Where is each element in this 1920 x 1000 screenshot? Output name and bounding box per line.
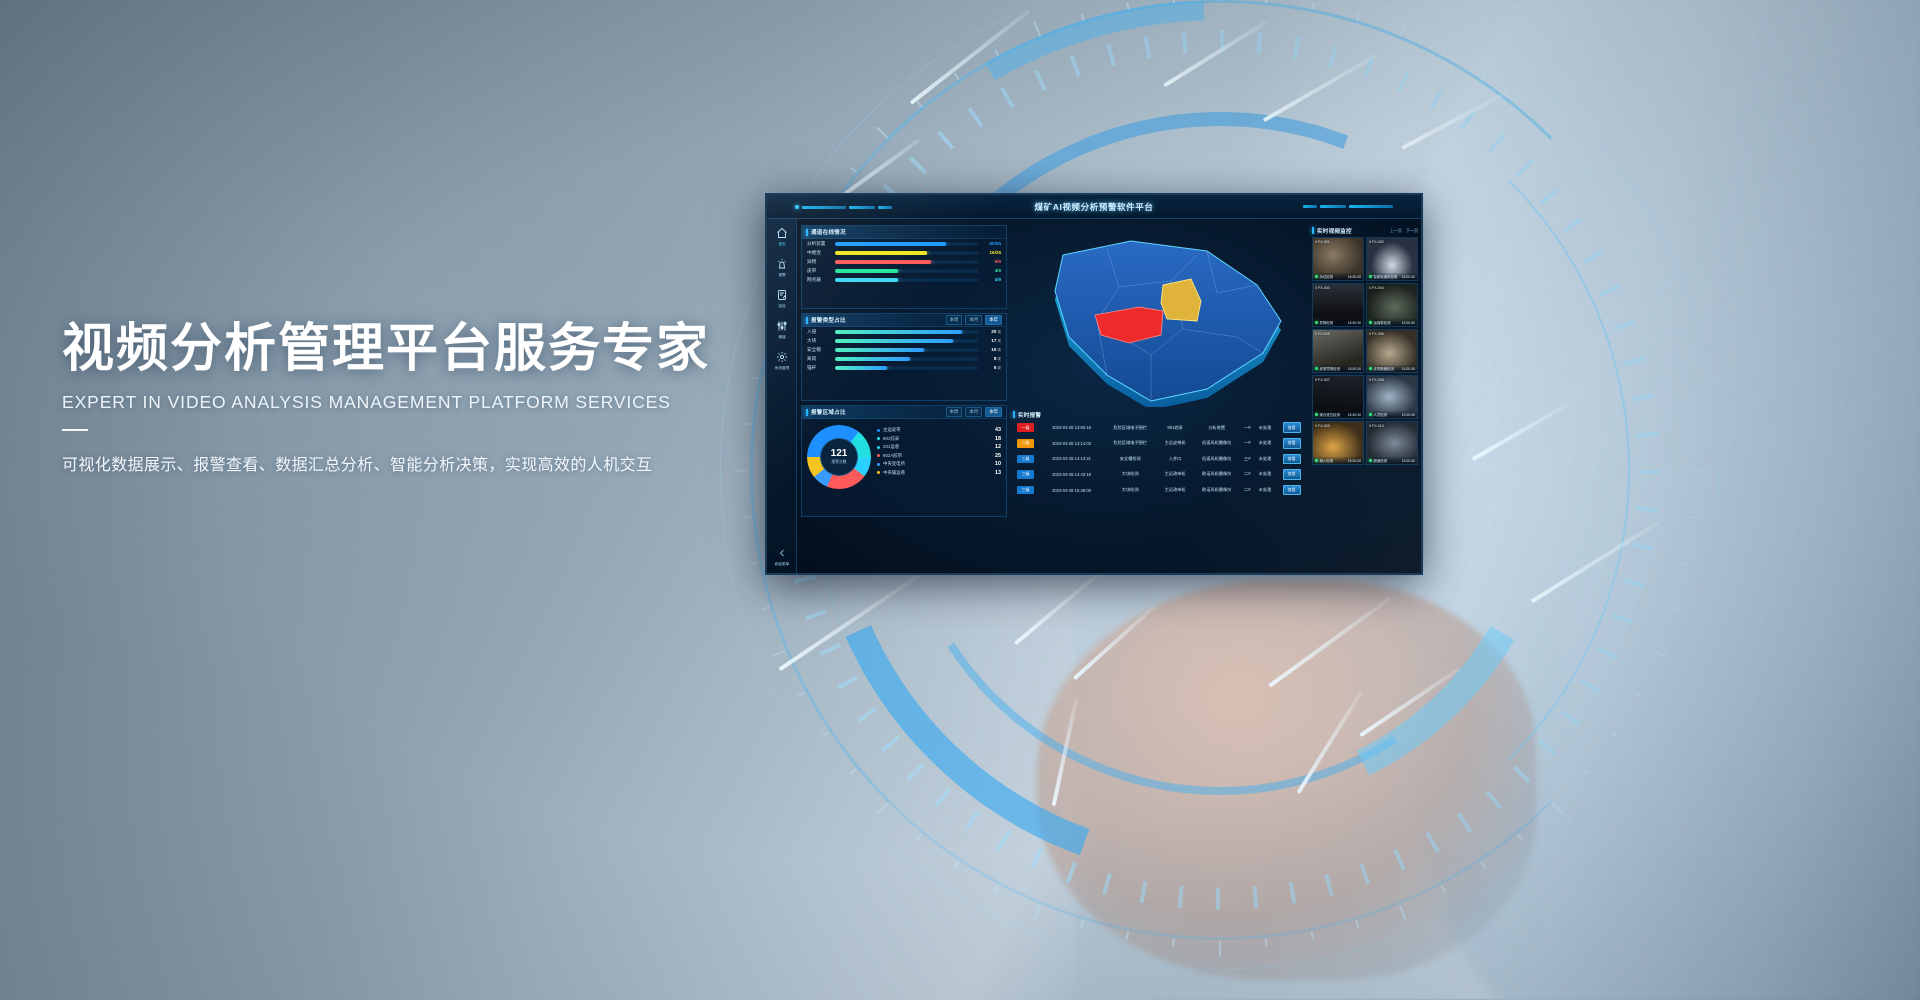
video-cell[interactable]: 0 FX-001永位检测15:20:30	[1312, 237, 1364, 281]
video-cell[interactable]: 0 FX-006皮带跑偏检测15:20:30	[1366, 329, 1418, 373]
prev-page-button[interactable]: 上一页	[1390, 228, 1402, 234]
video-cell[interactable]: 0 FX-002智能轨道巡检例15:20:30	[1366, 237, 1418, 281]
sidebar-label-collapse: 收起菜单	[769, 561, 795, 567]
online-status-icon	[1315, 413, 1318, 416]
legend-item: 902A胶带25	[877, 453, 1001, 459]
alarm-grade: 二#	[1241, 482, 1254, 498]
channel-name: 皮带	[807, 268, 835, 274]
alarm-status: 未处理	[1254, 467, 1276, 483]
camera-id: 0 FX-003	[1315, 286, 1330, 290]
online-status-icon	[1315, 459, 1318, 462]
legend-name: 901综采	[883, 436, 995, 442]
alarm-area: 主运皮带机	[1157, 436, 1192, 452]
video-cell[interactable]: 0 FX-005皮带异物检测15:20:30	[1312, 329, 1364, 373]
camera-time: 15:20:30	[1402, 275, 1415, 279]
camera-time: 15:20:30	[1402, 367, 1415, 371]
camera-time: 15:20:30	[1402, 413, 1415, 417]
alarm-type-value: 10次	[979, 347, 1001, 353]
sidebar-item-home[interactable]: 首页	[768, 227, 796, 247]
alarm-grade: 一#	[1241, 420, 1254, 436]
alarm-type-row: 离岗8次	[802, 354, 1006, 363]
table-row[interactable]: 三级2023-03-28 14:43:18大块检测主运改单机欧诺风机摄像仪二#未…	[1011, 467, 1307, 483]
sidebar-item-alarm[interactable]: 报警	[768, 258, 796, 278]
alarm-type: 危险区域电子围栏	[1103, 420, 1158, 436]
video-cell[interactable]: 0 FX-004运煤带检测15:20:30	[1366, 283, 1418, 327]
camera-time: 15:20:30	[1348, 321, 1361, 325]
video-monitor-panel: 实时视频监控 上一页 下一页 0 FX-001永位检测15:20:300 FX-…	[1311, 225, 1419, 517]
table-row[interactable]: 三级2023-03-28 15:46:00大块检测主运改单机欧诺风机摄像仪二#未…	[1011, 482, 1307, 498]
channel-value: 16/25	[979, 250, 1001, 255]
legend-swatch	[877, 454, 880, 457]
camera-id: 0 FX-006	[1369, 332, 1384, 336]
online-status-icon	[1315, 321, 1318, 324]
alarm-level: 一级	[1011, 420, 1040, 436]
legend-value: 25	[995, 453, 1001, 459]
channel-name: 中继连	[807, 250, 835, 256]
alarm-type: 危险区域电子围栏	[1103, 436, 1158, 452]
alarm-area-header: 报警区域占比 本周本月本年	[802, 406, 1006, 419]
sidebar-item-system[interactable]: 系统管理	[768, 351, 796, 371]
alarm-device: 分析装置	[1193, 420, 1241, 436]
inspection-icon	[768, 289, 796, 302]
alarm-type: 大块检测	[1103, 482, 1158, 498]
page-title: 视频分析管理平台服务专家	[62, 320, 762, 378]
alarm-type-track	[835, 348, 979, 352]
video-monitor-title: 实时视频监控	[1317, 227, 1352, 235]
camera-time: 15:20:30	[1348, 459, 1361, 463]
home-icon	[768, 227, 796, 240]
view-button[interactable]: 查看	[1283, 438, 1301, 449]
legend-name: 中央辅运巷	[883, 470, 995, 476]
channel-row: 中继连16/25	[802, 248, 1006, 257]
camera-name: 人员检测	[1374, 412, 1388, 417]
online-status-icon	[1315, 275, 1318, 278]
realtime-alarm-header: 实时报警	[1011, 409, 1307, 420]
camera-id: 0 FX-010	[1369, 424, 1384, 428]
camera-time: 15:20:30	[1402, 321, 1415, 325]
legend-swatch	[877, 437, 880, 440]
camera-time: 15:20:30	[1348, 275, 1361, 279]
alarm-time: 2023-03-28 15:46:00	[1040, 482, 1103, 498]
online-status-icon	[1369, 275, 1372, 278]
channel-online-header: 通道在线情况	[802, 226, 1006, 239]
alarm-time: 2023-03-28 14:13:21	[1040, 451, 1103, 467]
legend-value: 12	[995, 444, 1001, 450]
video-cell[interactable]: 0 FX-003异物检测15:20:30	[1312, 283, 1364, 327]
tab-area-本周[interactable]: 本周	[946, 407, 963, 417]
legend-swatch	[877, 446, 880, 449]
sidebar-item-channel[interactable]: 通道	[768, 320, 796, 340]
alarm-area-donut-chart: 121 报警次数	[807, 425, 871, 489]
alarm-type-track	[835, 357, 979, 361]
alarm-action: 查看	[1276, 451, 1307, 467]
alarm-type-value: 8次	[979, 356, 1001, 362]
legend-value: 18	[995, 436, 1001, 442]
camera-name: 异物检测	[1320, 320, 1334, 325]
alarm-area-title: 报警区域占比	[811, 408, 846, 416]
legend-item: 901综采18	[877, 436, 1001, 442]
alarm-area: 主运改单机	[1157, 467, 1192, 483]
alarm-time: 2023-03-28 13:60:16	[1040, 420, 1103, 436]
camera-name: 智能轨道巡检例	[1374, 274, 1398, 279]
hero-copy: 视频分析管理平台服务专家 EXPERT IN VIDEO ANALYSIS MA…	[62, 320, 762, 475]
legend-swatch	[877, 463, 880, 466]
gear-icon	[768, 351, 796, 364]
alarm-type-name: 锚杆	[807, 365, 835, 371]
donut-center: 121 报警次数	[820, 438, 858, 476]
camera-id: 0 FX-001	[1315, 240, 1330, 244]
legend-value: 13	[995, 470, 1001, 476]
alarm-table: 一级2023-03-28 13:60:16危险区域电子围栏901综采分析装置一#…	[1011, 420, 1307, 498]
header-left-decoration	[795, 205, 892, 209]
video-grid: 0 FX-001永位检测15:20:300 FX-002智能轨道巡检例15:20…	[1311, 236, 1419, 466]
legend-item: 中央辅运巷13	[877, 470, 1001, 476]
divider	[62, 429, 88, 431]
alarm-time: 2023-03-28 14:43:18	[1040, 467, 1103, 483]
table-row[interactable]: 二级2023-03-28 13:14:03危险区域电子围栏主运皮带机低速风机摄像…	[1011, 436, 1307, 452]
hero-description: 可视化数据展示、报警查看、数据汇总分析、智能分析决策，实现高效的人机交互	[62, 451, 762, 475]
donut-center-value: 121	[831, 449, 848, 459]
alarm-area-panel: 报警区域占比 本周本月本年 121 报警次数 主运皮带43901综采18201运…	[801, 405, 1007, 517]
camera-id: 0 FX-009	[1315, 424, 1330, 428]
video-cell[interactable]: 0 FX-008人员检测15:20:30	[1366, 375, 1418, 419]
legend-value: 43	[995, 427, 1001, 433]
alarm-type-row: 锚杆5次	[802, 363, 1006, 372]
alarm-status: 未处理	[1254, 436, 1276, 452]
legend-name: 902A胶带	[883, 453, 995, 459]
legend-item: 主运皮带43	[877, 427, 1001, 433]
table-row[interactable]: 一级2023-03-28 13:60:16危险区域电子围栏901综采分析装置一#…	[1011, 420, 1307, 436]
camera-time: 15:20:30	[1348, 367, 1361, 371]
channel-value: 6/9	[979, 259, 1001, 264]
view-button[interactable]: 查看	[1283, 422, 1301, 433]
table-row[interactable]: 三级2023-03-28 14:13:21安全帽检测入井口低速风机摄像仪三#未处…	[1011, 451, 1307, 467]
alarm-type-name: 大块	[807, 338, 835, 344]
alarm-type-value: 20次	[979, 329, 1001, 335]
view-button[interactable]: 查看	[1283, 454, 1301, 465]
alarm-area-legend: 主运皮带43901综采18201运巷12902A胶带25中央变电所10中央辅运巷…	[871, 425, 1001, 489]
alarm-type-track	[835, 366, 979, 370]
camera-time: 15:20:30	[1348, 413, 1361, 417]
channel-track	[835, 269, 979, 273]
alarm-type-tabs[interactable]: 本周本月本年	[946, 315, 1002, 325]
alarm-grade: 三#	[1241, 451, 1254, 467]
camera-name: 烟火检测	[1320, 458, 1334, 463]
legend-name: 201运巷	[883, 444, 995, 450]
video-monitor-header: 实时视频监控 上一页 下一页	[1311, 225, 1419, 236]
alarm-area: 901综采	[1157, 420, 1192, 436]
camera-name: 运煤带检测	[1374, 320, 1391, 325]
header-right-decoration	[1303, 205, 1393, 208]
alarm-type: 大块检测	[1103, 467, 1158, 483]
collapse-icon	[768, 547, 796, 560]
channel-row: 网点器4/9	[802, 275, 1006, 284]
channel-row: 分析装置50/65	[802, 239, 1006, 248]
camera-id: 0 FX-007	[1315, 378, 1330, 382]
legend-name: 中央变电所	[883, 461, 995, 467]
dashboard-title: 煤矿AI视频分析预警软件平台	[1035, 201, 1154, 213]
legend-value: 10	[995, 461, 1001, 467]
alarm-area: 主运改单机	[1157, 482, 1192, 498]
alarm-status: 未处理	[1254, 420, 1276, 436]
alarm-device: 低速风机摄像仪	[1193, 436, 1241, 452]
donut-center-label: 报警次数	[831, 460, 846, 465]
channel-online-rows: 分析装置50/65中继连16/25异物6/9皮带4/9网点器4/9	[802, 239, 1006, 284]
channel-track	[835, 242, 979, 246]
alarm-type-rows: 入侵20次大块17次安全帽10次离岗8次锚杆5次	[802, 327, 1006, 372]
alarm-level: 二级	[1011, 436, 1040, 452]
video-cell[interactable]: 0 FX-010超速检测15:20:30	[1366, 421, 1418, 465]
camera-name: 超速检测	[1374, 458, 1388, 463]
online-status-icon	[1315, 367, 1318, 370]
alarm-level: 三级	[1011, 467, 1040, 483]
alarm-status: 未处理	[1254, 482, 1276, 498]
online-status-icon	[1369, 321, 1372, 324]
alarm-grade: 一#	[1241, 436, 1254, 452]
alarm-area: 入井口	[1157, 451, 1192, 467]
legend-item: 中央变电所10	[877, 461, 1001, 467]
channel-name: 异物	[807, 259, 835, 265]
tab-type-本月[interactable]: 本月	[965, 315, 982, 325]
camera-time: 15:20:30	[1402, 459, 1415, 463]
alarm-type-track	[835, 330, 979, 334]
channel-online-panel: 通道在线情况 分析装置50/65中继连16/25异物6/9皮带4/9网点器4/9	[801, 225, 1007, 309]
sidebar-item-inspection[interactable]: 巡检	[768, 289, 796, 309]
alarm-type-row: 大块17次	[802, 336, 1006, 345]
alarm-type-name: 入侵	[807, 329, 835, 335]
realtime-alarm-title: 实时报警	[1018, 411, 1041, 419]
channel-name: 分析装置	[807, 241, 835, 247]
alarm-grade: 二#	[1241, 467, 1254, 483]
view-button[interactable]: 查看	[1283, 469, 1301, 480]
video-cell[interactable]: 0 FX-009烟火检测15:20:30	[1312, 421, 1364, 465]
alarm-type-value: 17次	[979, 338, 1001, 344]
alarm-type-name: 安全帽	[807, 347, 835, 353]
alarm-type-title: 报警类型占比	[811, 316, 846, 324]
video-cell[interactable]: 0 FX-007煤仓液位检测15:20:30	[1312, 375, 1364, 419]
sidebar-label-channel: 通道	[769, 334, 795, 340]
sidebar-item-collapse[interactable]: 收起菜单	[768, 547, 796, 567]
alarm-action: 查看	[1276, 482, 1307, 498]
alarm-device: 低速风机摄像仪	[1193, 451, 1241, 467]
alarm-device: 欧诺风机摄像仪	[1193, 482, 1241, 498]
alarm-level: 三级	[1011, 482, 1040, 498]
alarm-type-row: 安全帽10次	[802, 345, 1006, 354]
alarm-area-tabs[interactable]: 本周本月本年	[946, 407, 1002, 417]
camera-name: 煤仓液位检测	[1320, 412, 1340, 417]
next-page-button[interactable]: 下一页	[1406, 228, 1418, 234]
alarm-type-row: 入侵20次	[802, 327, 1006, 336]
alarm-time: 2023-03-28 13:14:03	[1040, 436, 1103, 452]
channel-icon	[768, 320, 796, 333]
dashboard-screen: 煤矿AI视频分析预警软件平台 首页 报警	[765, 193, 1423, 575]
alarm-action: 查看	[1276, 467, 1307, 483]
hero-subtitle: EXPERT IN VIDEO ANALYSIS MANAGEMENT PLAT…	[62, 392, 762, 413]
tab-area-本月[interactable]: 本月	[965, 407, 982, 417]
map-svg	[1011, 225, 1307, 407]
legend-item: 201运巷12	[877, 444, 1001, 450]
channel-track	[835, 260, 979, 264]
online-status-icon	[1369, 367, 1372, 370]
channel-track	[835, 251, 979, 255]
dashboard-sidebar: 首页 报警 巡检 通道	[767, 219, 797, 573]
province-map[interactable]	[1011, 225, 1307, 407]
channel-value: 4/9	[979, 268, 1001, 273]
camera-name: 皮带异物检测	[1320, 366, 1340, 371]
tab-type-本周[interactable]: 本周	[946, 315, 963, 325]
realtime-alarm-panel: 实时报警 一级2023-03-28 13:60:16危险区域电子围栏901综采分…	[1011, 409, 1307, 517]
tab-type-本年[interactable]: 本年	[985, 315, 1002, 325]
camera-name: 皮带跑偏检测	[1374, 366, 1394, 371]
legend-swatch	[877, 471, 880, 474]
channel-online-title: 通道在线情况	[811, 228, 846, 236]
channel-row: 皮带4/9	[802, 266, 1006, 275]
camera-id: 0 FX-002	[1369, 240, 1384, 244]
sidebar-label-alarm: 报警	[769, 272, 795, 278]
camera-name: 永位检测	[1320, 274, 1334, 279]
alarm-icon	[768, 258, 796, 271]
map-base	[1055, 241, 1281, 401]
view-button[interactable]: 查看	[1283, 485, 1301, 496]
alarm-type: 安全帽检测	[1103, 451, 1158, 467]
camera-id: 0 FX-008	[1369, 378, 1384, 382]
alarm-type-name: 离岗	[807, 356, 835, 362]
camera-id: 0 FX-005	[1315, 332, 1330, 336]
alarm-action: 查看	[1276, 420, 1307, 436]
alarm-status: 未处理	[1254, 451, 1276, 467]
channel-row: 异物6/9	[802, 257, 1006, 266]
alarm-level: 三级	[1011, 451, 1040, 467]
alarm-action: 查看	[1276, 436, 1307, 452]
tab-area-本年[interactable]: 本年	[985, 407, 1002, 417]
camera-id: 0 FX-004	[1369, 286, 1384, 290]
channel-track	[835, 278, 979, 282]
sidebar-label-inspection: 巡检	[769, 303, 795, 309]
alarm-type-panel: 报警类型占比 本周本月本年 入侵20次大块17次安全帽10次离岗8次锚杆5次	[801, 313, 1007, 401]
legend-name: 主运皮带	[883, 427, 995, 433]
dashboard-header: 煤矿AI视频分析预警软件平台	[767, 195, 1421, 219]
sidebar-label-home: 首页	[769, 241, 795, 247]
online-status-icon	[1369, 413, 1372, 416]
alarm-device: 欧诺风机摄像仪	[1193, 467, 1241, 483]
sidebar-label-system: 系统管理	[769, 365, 795, 371]
alarm-type-value: 5次	[979, 365, 1001, 371]
alarm-type-track	[835, 339, 979, 343]
channel-value: 4/9	[979, 277, 1001, 282]
status-dot-icon	[795, 205, 799, 209]
alarm-type-header: 报警类型占比 本周本月本年	[802, 314, 1006, 327]
legend-swatch	[877, 429, 880, 432]
channel-value: 50/65	[979, 241, 1001, 246]
channel-name: 网点器	[807, 277, 835, 283]
online-status-icon	[1369, 459, 1372, 462]
